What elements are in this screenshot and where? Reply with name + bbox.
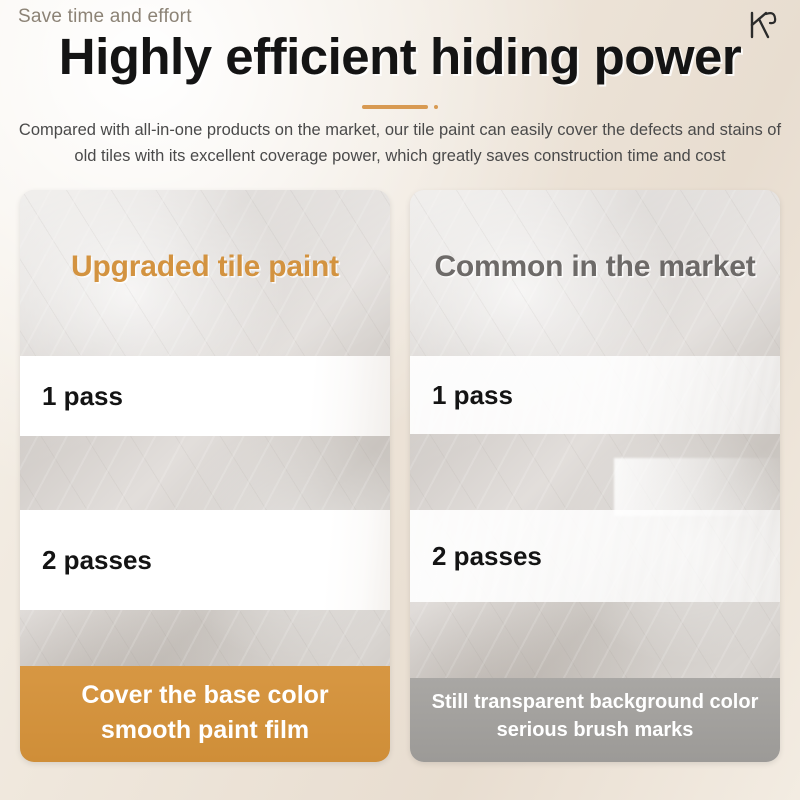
card-caption-common: Still transparent background color serio… <box>410 678 780 762</box>
page-subcopy: Compared with all-in-one products on the… <box>14 118 786 169</box>
comparison-card-common: Common in the market 1 pass 2 passes Sti… <box>410 190 780 762</box>
comparison-card-upgraded: Upgraded tile paint 1 pass 2 passes Cove… <box>20 190 390 762</box>
caption-line-2: serious brush marks <box>410 716 780 744</box>
eyebrow-text: Save time and effort <box>18 6 192 28</box>
swatch-label: 1 pass <box>42 381 123 412</box>
paint-swatch-right-1pass: 1 pass <box>410 356 780 434</box>
caption-line-2: smooth paint film <box>20 713 390 748</box>
divider-dot <box>434 105 438 109</box>
divider-bar <box>362 105 428 109</box>
paint-swatch-left-2passes: 2 passes <box>20 510 390 610</box>
title-divider <box>0 104 800 110</box>
page-title: Highly efficient hiding power <box>0 30 800 84</box>
tile-glare-right <box>614 458 781 516</box>
card-title-common: Common in the market <box>410 250 780 284</box>
swatch-label: 2 passes <box>432 541 542 572</box>
caption-line-1: Still transparent background color <box>432 691 759 713</box>
paint-swatch-right-2passes: 2 passes <box>410 510 780 602</box>
caption-line-1: Cover the base color <box>81 681 328 709</box>
paint-swatch-left-1pass: 1 pass <box>20 356 390 436</box>
card-caption-upgraded: Cover the base color smooth paint film <box>20 666 390 762</box>
swatch-label: 2 passes <box>42 545 152 576</box>
promo-page: Save time and effort Highly efficient hi… <box>0 0 800 800</box>
card-title-upgraded: Upgraded tile paint <box>20 250 390 284</box>
swatch-label: 1 pass <box>432 380 513 411</box>
comparison-container: Upgraded tile paint 1 pass 2 passes Cove… <box>20 190 780 770</box>
